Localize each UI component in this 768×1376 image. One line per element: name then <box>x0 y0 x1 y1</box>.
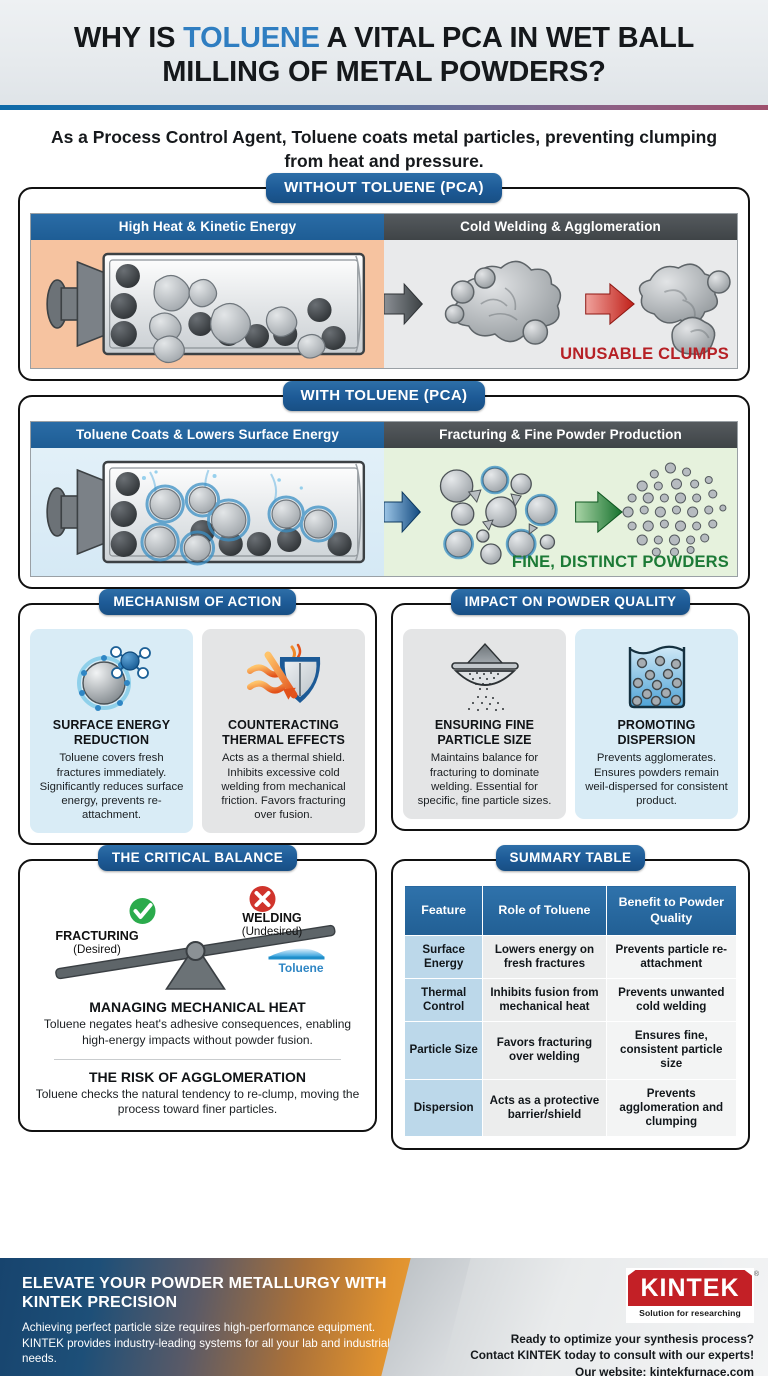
card-text: Prevents agglomerates. Ensures powders r… <box>582 751 731 808</box>
check-badge-icon <box>130 898 156 924</box>
pane-fracturing-body: FINE, DISTINCT POWDERS <box>384 448 737 576</box>
section-with-toluene: WITH TOLUENE (PCA) Toluene Coats & Lower… <box>18 395 750 589</box>
cell-role: Inhibits fusion from mechanical heat <box>483 978 606 1021</box>
card-counteracting-thermal-effects: COUNTERACTING THERMAL EFFECTS Acts as a … <box>202 629 365 834</box>
pane-fracturing-header: Fracturing & Fine Powder Production <box>384 422 737 448</box>
card-ensuring-fine-particle-size: ENSURING FINE PARTICLE SIZE Maintains ba… <box>403 629 566 819</box>
pane-high-heat-header: High Heat & Kinetic Energy <box>31 214 384 240</box>
column-header-role: Role of Toluene <box>483 886 606 935</box>
summary-table-wrap: Feature Role of Toluene Benefit to Powde… <box>393 861 748 1148</box>
page-subtitle: As a Process Control Agent, Toluene coat… <box>0 110 768 187</box>
card-surface-energy-reduction: SURFACE ENERGY REDUCTION Toluene covers … <box>30 629 193 834</box>
section-impact: IMPACT ON POWDER QUALITY <box>391 603 750 831</box>
pane-toluene-coats-body <box>31 448 384 576</box>
summary-table: Feature Role of Toluene Benefit to Powde… <box>404 885 737 1137</box>
content-stage: WITHOUT TOLUENE (PCA) High Heat & Kineti… <box>0 187 768 589</box>
agglomeration-risk-text: Toluene checks the natural tendency to r… <box>32 1087 363 1118</box>
footer-headline: ELEVATE YOUR POWDER METALLURGY WITH KINT… <box>22 1274 412 1312</box>
cell-benefit: Prevents particle re-attachment <box>606 935 736 978</box>
balance-left-label: FRACTURING <box>38 929 156 943</box>
table-row: Dispersion Acts as a protective barrier/… <box>405 1079 737 1136</box>
card-title: ENSURING FINE PARTICLE SIZE <box>410 718 559 748</box>
without-toluene-panes: High Heat & Kinetic Energy <box>30 213 738 369</box>
pane-high-heat: High Heat & Kinetic Energy <box>31 214 384 368</box>
footer-cta: Ready to optimize your synthesis process… <box>470 1331 754 1376</box>
coated-particle-molecule-icon <box>37 639 186 715</box>
cell-feature: Dispersion <box>405 1079 483 1136</box>
section-mechanism: MECHANISM OF ACTION <box>18 603 377 846</box>
heat-shield-icon <box>209 639 358 715</box>
pane-high-heat-body <box>31 240 384 368</box>
sieve-powder-icon <box>410 639 559 715</box>
pane-cold-welding-header: Cold Welding & Agglomeration <box>384 214 737 240</box>
with-toluene-panes: Toluene Coats & Lowers Surface Energy <box>30 421 738 577</box>
card-title: SURFACE ENERGY REDUCTION <box>37 718 186 748</box>
cell-role: Favors fracturing over welding <box>483 1022 606 1079</box>
column-header-benefit: Benefit to Powder Quality <box>606 886 736 935</box>
kintek-logo-tagline: Solution for researching <box>628 1305 752 1321</box>
card-title: PROMOTING DISPERSION <box>582 718 731 748</box>
pane-toluene-coats: Toluene Coats & Lowers Surface Energy <box>31 422 384 576</box>
footer-promo: ELEVATE YOUR POWDER METALLURGY WITH KINT… <box>0 1258 430 1376</box>
balance-body: FRACTURING (Desired) WELDING (Undesired)… <box>20 861 375 1129</box>
page-title-highlight: TOLUENE <box>183 22 320 54</box>
footer-cta-line1: Ready to optimize your synthesis process… <box>470 1331 754 1347</box>
cell-benefit: Prevents agglomeration and clumping <box>606 1079 736 1136</box>
unusable-clumps-caption: UNUSABLE CLUMPS <box>560 345 729 364</box>
page-title-pre: WHY IS <box>74 22 183 54</box>
balance-divider <box>54 1059 341 1060</box>
toluene-fluid-label: Toluene <box>246 961 356 975</box>
pane-cold-welding-body: UNUSABLE CLUMPS <box>384 240 737 368</box>
cell-role: Lowers energy on fresh fractures <box>483 935 606 978</box>
mechanism-impact-row: MECHANISM OF ACTION <box>0 603 768 860</box>
footer-cta-line2: Contact KINTEK today to consult with our… <box>470 1347 754 1363</box>
cell-benefit: Ensures fine, consistent particle size <box>606 1022 736 1079</box>
impact-cards: ENSURING FINE PARTICLE SIZE Maintains ba… <box>393 605 748 829</box>
table-row: Particle Size Favors fracturing over wel… <box>405 1022 737 1079</box>
balance-summary-row: THE CRITICAL BALANCE <box>0 859 768 1164</box>
section-without-toluene: WITHOUT TOLUENE (PCA) High Heat & Kineti… <box>18 187 750 381</box>
footer-contact: KINTEK Solution for researching ® Ready … <box>430 1258 768 1376</box>
balance-right-sub: (Undesired) <box>212 925 332 938</box>
card-title: COUNTERACTING THERMAL EFFECTS <box>209 718 358 748</box>
seesaw-balance-illustration: FRACTURING (Desired) WELDING (Undesired)… <box>32 885 363 997</box>
pane-toluene-coats-header: Toluene Coats & Lowers Surface Energy <box>31 422 384 448</box>
managing-heat-title: MANAGING MECHANICAL HEAT <box>32 999 363 1015</box>
fine-powders-caption: FINE, DISTINCT POWDERS <box>512 553 729 572</box>
footer-cta-line3[interactable]: Our website: kintekfurnace.com <box>470 1364 754 1376</box>
balance-right-label: WELDING <box>212 911 332 925</box>
table-row: Thermal Control Inhibits fusion from mec… <box>405 978 737 1021</box>
pane-cold-welding: Cold Welding & Agglomeration <box>384 214 737 368</box>
footer-body: Achieving perfect particle size requires… <box>22 1320 412 1366</box>
dispersion-beaker-icon <box>582 639 731 715</box>
card-text: Toluene covers fresh fractures immediate… <box>37 751 186 822</box>
badge-with-toluene-wrap: WITH TOLUENE (PCA) <box>20 381 748 411</box>
cell-feature: Thermal Control <box>405 978 483 1021</box>
column-header-feature: Feature <box>405 886 483 935</box>
page-title: WHY IS TOLUENE A VITAL PCA IN WET BALL M… <box>26 22 742 89</box>
cell-feature: Surface Energy <box>405 935 483 978</box>
kintek-logo[interactable]: KINTEK Solution for researching ® <box>626 1268 754 1323</box>
cell-benefit: Prevents unwanted cold welding <box>606 978 736 1021</box>
table-row: Surface Energy Lowers energy on fresh fr… <box>405 935 737 978</box>
card-text: Maintains balance for fracturing to domi… <box>410 751 559 808</box>
balance-column: THE CRITICAL BALANCE <box>18 859 377 1164</box>
card-promoting-dispersion: PROMOTING DISPERSION Prevents agglomerat… <box>575 629 738 819</box>
summary-column: SUMMARY TABLE Feature Role of Toluene Be… <box>391 859 750 1164</box>
card-text: Acts as a thermal shield. Inhibits exces… <box>209 751 358 822</box>
managing-heat-text: Toluene negates heat's adhesive conseque… <box>32 1017 363 1048</box>
kintek-logo-name: KINTEK <box>628 1270 752 1305</box>
section-critical-balance: THE CRITICAL BALANCE <box>18 859 377 1131</box>
page-header: WHY IS TOLUENE A VITAL PCA IN WET BALL M… <box>0 0 768 105</box>
table-header-row: Feature Role of Toluene Benefit to Powde… <box>405 886 737 935</box>
cell-role: Acts as a protective barrier/shield <box>483 1079 606 1136</box>
section-summary-table: SUMMARY TABLE Feature Role of Toluene Be… <box>391 859 750 1150</box>
page-footer: ELEVATE YOUR POWDER METALLURGY WITH KINT… <box>0 1258 768 1376</box>
ball-mill-drum-hot-illustration <box>31 240 384 368</box>
badge-with-toluene: WITH TOLUENE (PCA) <box>283 381 486 411</box>
mechanism-cards: SURFACE ENERGY REDUCTION Toluene covers … <box>20 605 375 844</box>
impact-column: IMPACT ON POWDER QUALITY <box>391 603 750 860</box>
balance-left-sub: (Desired) <box>38 943 156 956</box>
registered-mark-icon: ® <box>754 1271 759 1278</box>
pane-fracturing: Fracturing & Fine Powder Production <box>384 422 737 576</box>
mechanism-column: MECHANISM OF ACTION <box>18 603 377 860</box>
agglomeration-risk-title: THE RISK OF AGGLOMERATION <box>32 1069 363 1085</box>
cell-feature: Particle Size <box>405 1022 483 1079</box>
ball-mill-drum-coated-illustration <box>31 448 384 576</box>
